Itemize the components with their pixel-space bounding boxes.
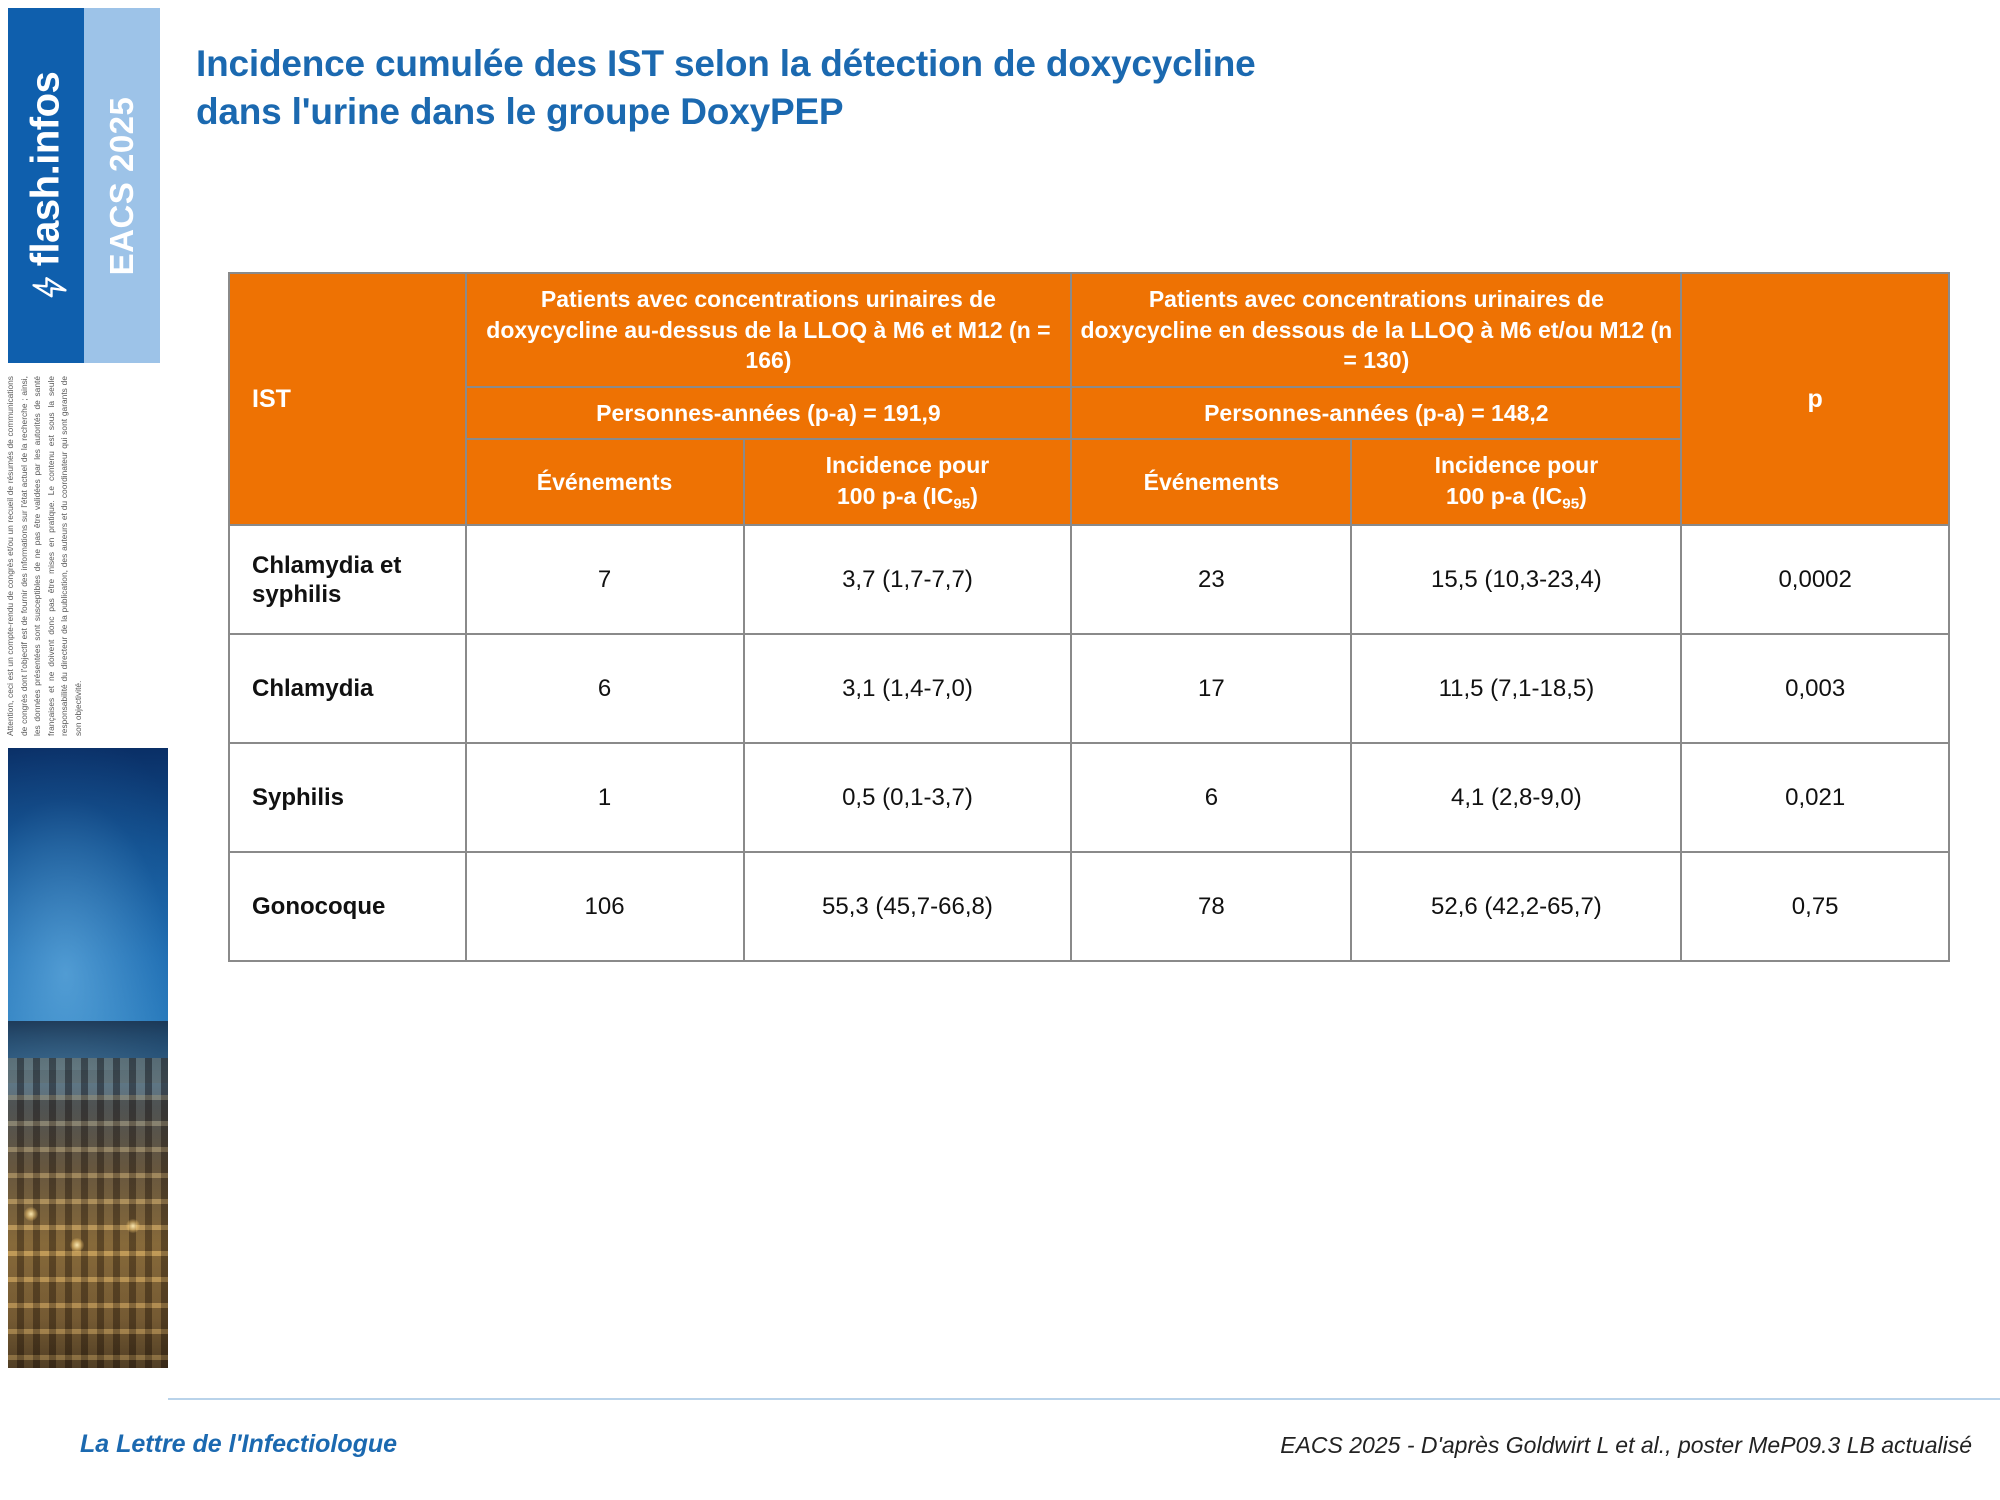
header-row-group: IST Patients avec concentrations urinair… (229, 273, 1949, 387)
header-person-years-above: Personnes-années (p-a) = 191,9 (466, 387, 1072, 440)
cell-ist: Syphilis (229, 743, 466, 852)
header-group-above-lloq: Patients avec concentrations urinaires d… (466, 273, 1072, 387)
flash-infos-text: flash.infos (24, 71, 69, 266)
page-title-line-2: dans l'urine dans le groupe DoxyPEP (196, 88, 1856, 136)
sti-incidence-table: IST Patients avec concentrations urinair… (228, 272, 1950, 962)
cell-events-below: 23 (1071, 525, 1351, 634)
cell-ist-line2: syphilis (252, 581, 341, 608)
photo-lamp-icon (70, 1238, 84, 1252)
cell-ist-line1: Chlamydia et (252, 552, 401, 579)
cell-incidence-above: 0,5 (0,1-3,7) (744, 743, 1072, 852)
cell-incidence-below: 11,5 (7,1-18,5) (1351, 634, 1681, 743)
header-events-below: Événements (1071, 439, 1351, 525)
brand-block: flash.infos EACS 2025 (8, 8, 160, 363)
left-rail: flash.infos EACS 2025 Attention, ceci es… (0, 0, 170, 1500)
cell-p-value: 0,003 (1681, 634, 1949, 743)
congress-venue-photo (8, 748, 168, 1368)
table-row: Chlamydia 6 3,1 (1,4-7,0) 17 11,5 (7,1-1… (229, 634, 1949, 743)
header-incidence-below-subscript: 95 (1562, 495, 1579, 512)
table-row: Gonocoque 106 55,3 (45,7-66,8) 78 52,6 (… (229, 852, 1949, 961)
cell-incidence-above: 3,7 (1,7-7,7) (744, 525, 1072, 634)
header-ist: IST (229, 273, 466, 525)
table-row: Syphilis 1 0,5 (0,1-3,7) 6 4,1 (2,8-9,0)… (229, 743, 1949, 852)
flash-infos-logo: flash.infos (8, 8, 84, 363)
cell-incidence-below: 4,1 (2,8-9,0) (1351, 743, 1681, 852)
cell-ist: Chlamydia et syphilis (229, 525, 466, 634)
header-incidence-below-line1: Incidence pour (1435, 452, 1599, 478)
cell-events-above: 106 (466, 852, 744, 961)
congress-label: EACS 2025 (103, 96, 141, 275)
cell-p-value: 0,021 (1681, 743, 1949, 852)
cell-events-above: 6 (466, 634, 744, 743)
cell-events-below: 17 (1071, 634, 1351, 743)
cell-ist: Chlamydia (229, 634, 466, 743)
disclaimer-block: Attention, ceci est un compte-rendu de c… (0, 372, 168, 740)
cell-incidence-above: 55,3 (45,7-66,8) (744, 852, 1072, 961)
header-person-years-below: Personnes-années (p-a) = 148,2 (1071, 387, 1681, 440)
cell-incidence-below: 52,6 (42,2-65,7) (1351, 852, 1681, 961)
header-group-below-lloq: Patients avec concentrations urinaires d… (1071, 273, 1681, 387)
header-incidence-below-line2-post: ) (1579, 483, 1587, 509)
results-table-container: IST Patients avec concentrations urinair… (228, 272, 1950, 962)
cell-events-below: 78 (1071, 852, 1351, 961)
photo-facade-windows (8, 1095, 168, 1368)
table-body: Chlamydia et syphilis 7 3,7 (1,7-7,7) 23… (229, 525, 1949, 961)
cell-incidence-below: 15,5 (10,3-23,4) (1351, 525, 1681, 634)
footer-publication: La Lettre de l'Infectiologue (80, 1430, 397, 1459)
disclaimer-text: Attention, ceci est un compte-rendu de c… (4, 376, 164, 736)
footer-divider (168, 1398, 2000, 1400)
footer-source: EACS 2025 - D'après Goldwirt L et al., p… (1280, 1432, 1972, 1459)
cell-p-value: 0,0002 (1681, 525, 1949, 634)
header-p-value: p (1681, 273, 1949, 525)
header-incidence-above-line2-pre: 100 p-a (IC (837, 483, 953, 509)
header-incidence-above-line2-post: ) (970, 483, 978, 509)
lightning-bolt-icon (31, 274, 65, 300)
cell-ist: Gonocoque (229, 852, 466, 961)
table-row: Chlamydia et syphilis 7 3,7 (1,7-7,7) 23… (229, 525, 1949, 634)
cell-incidence-above: 3,1 (1,4-7,0) (744, 634, 1072, 743)
cell-events-above: 1 (466, 743, 744, 852)
cell-events-below: 6 (1071, 743, 1351, 852)
header-incidence-below-line2-pre: 100 p-a (IC (1446, 483, 1562, 509)
header-incidence-above-subscript: 95 (953, 495, 970, 512)
flash-infos-label: flash.infos (24, 71, 69, 300)
header-incidence-below: Incidence pour 100 p-a (IC95) (1351, 439, 1681, 525)
cell-events-above: 7 (466, 525, 744, 634)
page-title: Incidence cumulée des IST selon la détec… (196, 40, 1856, 136)
page-title-line-1: Incidence cumulée des IST selon la détec… (196, 40, 1856, 88)
table-head: IST Patients avec concentrations urinair… (229, 273, 1949, 525)
header-incidence-above-line1: Incidence pour (826, 452, 990, 478)
photo-lamp-icon (24, 1207, 38, 1221)
header-incidence-above: Incidence pour 100 p-a (IC95) (744, 439, 1072, 525)
congress-badge: EACS 2025 (84, 8, 160, 363)
cell-p-value: 0,75 (1681, 852, 1949, 961)
header-events-above: Événements (466, 439, 744, 525)
